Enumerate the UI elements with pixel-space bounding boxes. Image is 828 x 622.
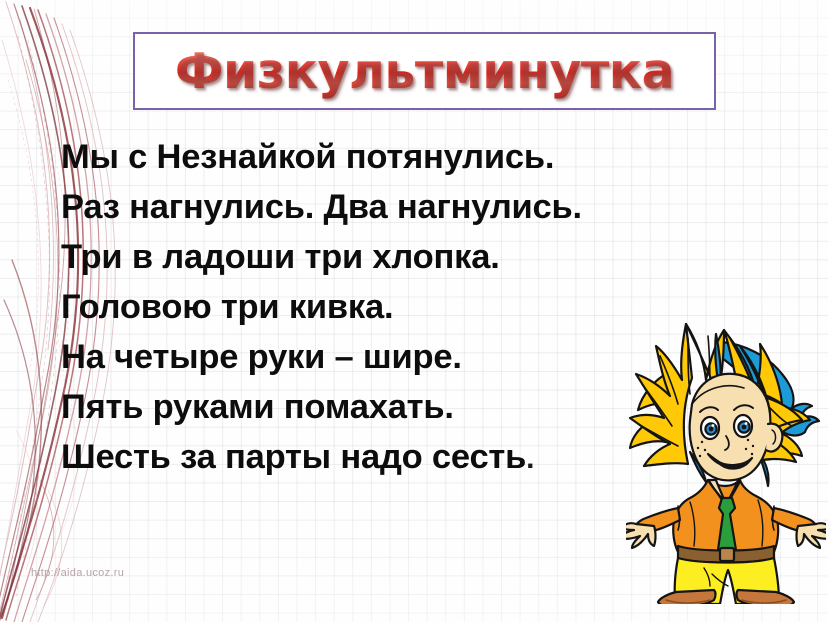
- poem-line: На четыре руки – шире.: [61, 333, 681, 383]
- poem-line: Головою три кивка.: [61, 283, 681, 333]
- poem-line-text: Головою три кивка.: [61, 288, 393, 326]
- page-title: Физкультминутка: [133, 32, 716, 110]
- poem-line-text: Пять руками помахать.: [61, 388, 454, 426]
- page-title-text: Физкультминутка: [175, 43, 674, 100]
- poem-line-text: Мы с Незнайкой потянулись.: [61, 138, 554, 176]
- poem-line-tail: .: [526, 442, 534, 475]
- poem-text-block: Мы с Незнайкой потянулись. Раз нагнулись…: [61, 133, 681, 483]
- poem-line-text: Раз нагнулись. Два нагнулись.: [61, 188, 582, 226]
- poem-line: Три в ладоши три хлопка.: [61, 233, 681, 283]
- poem-line-text: Три в ладоши три хлопка.: [61, 238, 500, 276]
- poem-line-text: Шесть за парты надо сесть: [61, 438, 526, 476]
- poem-line: Раз нагнулись. Два нагнулись.: [61, 183, 681, 233]
- poem-line: Пять руками помахать.: [61, 383, 681, 433]
- poem-line-text: На четыре руки – шире.: [61, 338, 462, 376]
- poem-line: Шесть за парты надо сесть.: [61, 433, 681, 483]
- neznaika-character-illustration: [626, 312, 826, 604]
- slide-canvas: Физкультминутка Мы с Незнайкой потянулис…: [0, 0, 828, 622]
- watermark: http://aida.ucoz.ru: [31, 567, 124, 579]
- poem-line: Мы с Незнайкой потянулись.: [61, 133, 681, 183]
